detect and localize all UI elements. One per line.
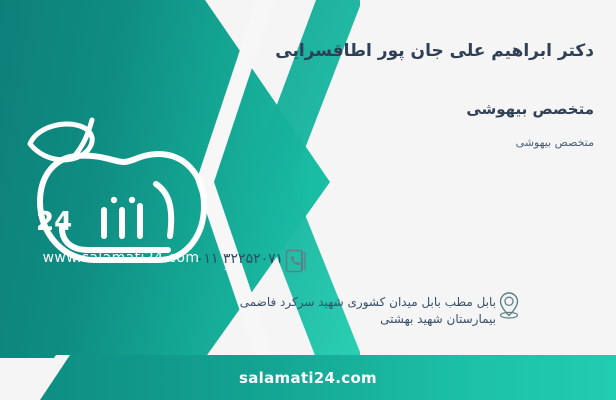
phone-number: ۳۲۲۵۲۰۷۱ ۰۱۱ — [196, 248, 283, 268]
svg-text:24: 24 — [36, 207, 72, 237]
doctor-profile-card: 24 به راحتی یک لبخند www.salamati24.com … — [0, 0, 616, 400]
doctor-name: دکتر ابراهیم علی جان پور اطاقسرایی — [194, 38, 594, 64]
doctor-specialty: متخصص بیهوشی — [194, 100, 594, 118]
address-row[interactable]: بابل مطب بابل میدان کشوری شهید سرکرد فاض… — [196, 290, 596, 328]
phone-book-icon — [283, 248, 309, 278]
phone-row[interactable]: ۳۲۲۵۲۰۷۱ ۰۱۱ — [196, 248, 596, 278]
doctor-specialty-subtitle: متخصص بیهوشی — [194, 136, 594, 149]
location-pin-icon — [496, 290, 522, 320]
logo-website-url: www.salamati24.com — [16, 250, 226, 266]
footer-site-link[interactable]: salamati24.com — [0, 355, 616, 400]
clinic-address: بابل مطب بابل میدان کشوری شهید سرکرد فاض… — [196, 290, 496, 328]
